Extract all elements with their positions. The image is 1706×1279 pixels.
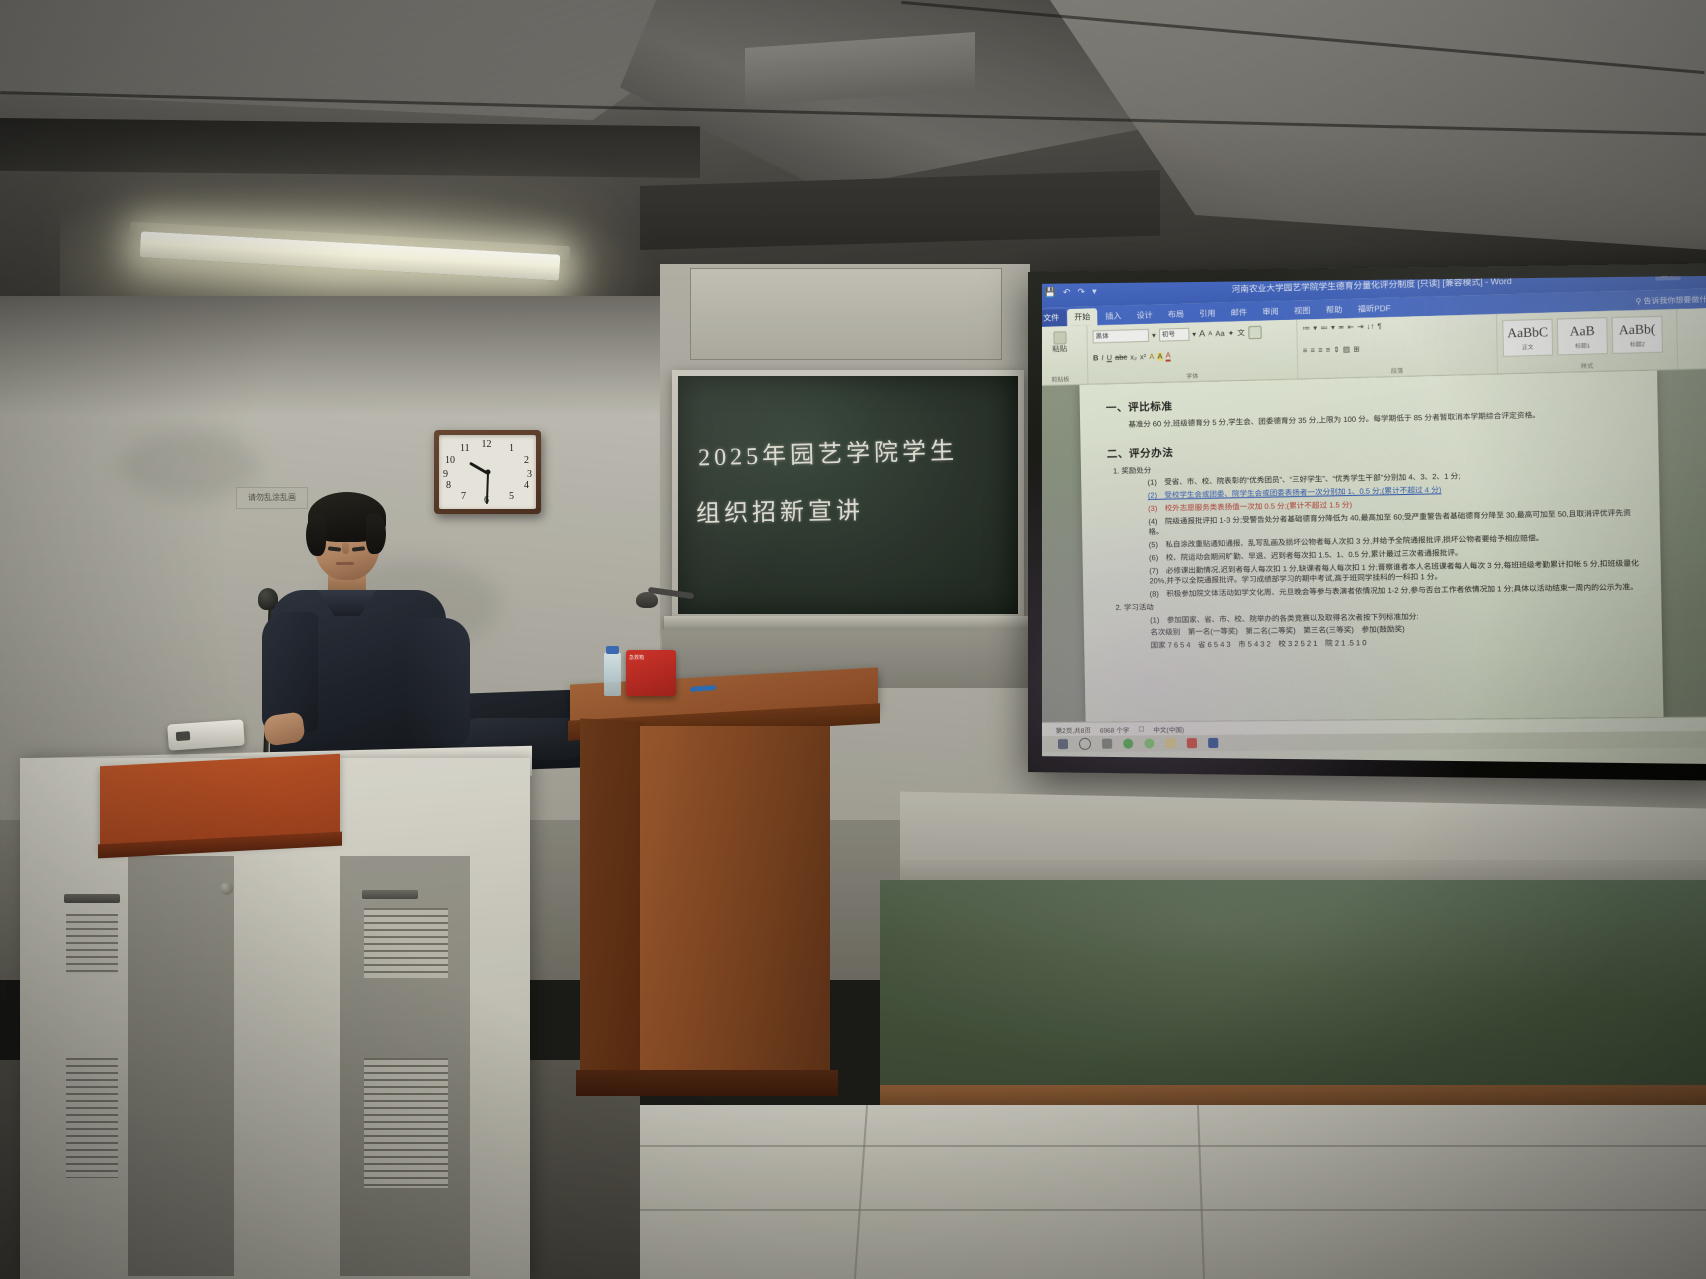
style-normal-name: 正文 [1522, 343, 1534, 352]
console-knob[interactable] [220, 882, 233, 895]
tile-grout-h2 [600, 1209, 1706, 1211]
console-vent-1 [66, 914, 118, 974]
ribbon-group-font[interactable]: 黑体 ▾ 初号 ▾ A A Aa ✦ 文 B [1087, 320, 1298, 384]
text-effects-icon[interactable]: A [1149, 353, 1154, 361]
red-box-label: 急救箱 [626, 650, 676, 666]
task-view-icon[interactable] [1102, 739, 1112, 749]
justify-icon[interactable]: ≡ [1326, 346, 1331, 354]
lectern-body [640, 726, 830, 1086]
subscript-icon[interactable]: x₂ [1130, 354, 1137, 362]
tab-file[interactable]: 文件 [1042, 309, 1066, 327]
person-hair-side-left [306, 514, 326, 556]
style-normal-preview: AaBbC [1507, 324, 1548, 342]
tile-grout-h1 [600, 1145, 1706, 1147]
style-normal[interactable]: AaBbC 正文 [1502, 319, 1553, 357]
redo-icon[interactable]: ↷ [1077, 287, 1085, 298]
bold-icon[interactable]: B [1093, 355, 1099, 363]
clock-center-pin [485, 470, 490, 475]
person-presenter [262, 492, 562, 764]
blackboard-chalk-line-2: 组织招新宣讲 [696, 491, 865, 529]
projection-display-panel: save-icon 💾 ↶ ↷ ▾ 河南农业大学园艺学院学生德育分量化评分制度 … [1028, 263, 1706, 781]
green-floor-sheen [880, 880, 1706, 1100]
phonetic-guide-icon[interactable]: 文 [1237, 329, 1245, 337]
underline-icon[interactable]: U [1107, 354, 1113, 362]
shading-icon[interactable]: ▨ [1343, 345, 1350, 353]
lectern-base [576, 1070, 838, 1096]
tile-floor [600, 1105, 1706, 1279]
strikethrough-icon[interactable]: abc [1115, 354, 1127, 362]
bullets-chevron-down-icon[interactable]: ▾ [1313, 324, 1317, 332]
font-size-input[interactable]: 初号 [1159, 328, 1190, 342]
tile-grout-v1 [854, 1105, 868, 1279]
console-handle-right[interactable] [362, 890, 418, 899]
clock-numeral-11: 11 [460, 443, 470, 454]
restore-button[interactable]: ▫ [1700, 276, 1703, 278]
remote-display [176, 731, 191, 741]
ribbon-group-paragraph[interactable]: ≔ ▾ ≕ ▾ ≖ ⇤ ⇥ ↓↑ ¶ ≡ ≡ [1297, 314, 1498, 378]
sign-in-button[interactable]: 登录 [1656, 276, 1682, 281]
qq-icon[interactable] [1144, 738, 1154, 748]
word-icon[interactable] [1208, 738, 1218, 748]
multilevel-list-icon[interactable]: ≖ [1338, 323, 1345, 331]
reading-lamp-head [636, 592, 658, 608]
style-heading1-preview: AaB [1570, 323, 1595, 340]
document-title: 河南农业大学园艺学院学生德育分量化评分制度 [只读] [兼容模式] - Word [1231, 276, 1511, 295]
font-name-input[interactable]: 黑体 [1092, 329, 1149, 344]
enclose-character-icon[interactable] [1248, 326, 1262, 340]
align-right-icon[interactable]: ≡ [1318, 346, 1323, 354]
remote-control[interactable] [167, 719, 245, 750]
status-page-number[interactable]: 第2页,共8页 [1056, 724, 1091, 734]
clock-numeral-2: 2 [524, 455, 529, 466]
undo-icon[interactable]: ↶ [1063, 287, 1071, 298]
numbering-chevron-down-icon[interactable]: ▾ [1331, 324, 1335, 332]
document-canvas[interactable]: 一、评比标准 基准分 60 分,班级德育分 5 分,学生会、团委德育分 35 分… [1042, 369, 1706, 722]
paste-icon[interactable] [1053, 331, 1066, 344]
highlight-icon[interactable]: A [1157, 353, 1162, 361]
style-heading1[interactable]: AaB 标题1 [1557, 317, 1608, 355]
clock-numeral-9: 9 [443, 469, 448, 480]
console-panel-left [128, 856, 234, 1276]
status-language[interactable]: 中文(中国) [1153, 724, 1184, 734]
align-center-icon[interactable]: ≡ [1310, 346, 1315, 354]
chevron-down-icon[interactable]: ▾ [1092, 286, 1097, 297]
console-vent-3 [364, 908, 448, 978]
person-eye-left [328, 546, 341, 551]
paste-label[interactable]: 粘贴 [1052, 345, 1067, 353]
style-heading2-name: 标题2 [1630, 340, 1645, 349]
tab-design[interactable]: 设计 [1129, 306, 1160, 324]
shrink-font-icon[interactable]: A [1208, 331, 1212, 337]
folder-icon[interactable] [1165, 738, 1175, 748]
water-bottle [604, 652, 621, 696]
document-page[interactable]: 一、评比标准 基准分 60 分,班级德育分 5 分,学生会、团委德育分 35 分… [1079, 370, 1663, 721]
clock-numeral-3: 3 [527, 469, 532, 480]
person-nose [342, 542, 349, 554]
clear-formatting-icon[interactable]: ✦ [1228, 329, 1235, 337]
style-heading1-name: 标题1 [1575, 341, 1590, 350]
console-handle-left[interactable] [64, 894, 120, 903]
sort-icon[interactable]: ↓↑ [1367, 323, 1375, 331]
numbering-icon[interactable]: ≕ [1320, 324, 1328, 332]
person-right-arm [408, 618, 470, 746]
italic-icon[interactable]: I [1101, 354, 1103, 362]
tile-grout-v2 [1197, 1105, 1205, 1279]
screen-tilt-wrapper: save-icon 💾 ↶ ↷ ▾ 河南农业大学园艺学院学生德育分量化评分制度 … [1042, 276, 1706, 764]
classroom-photo-scene: 12 1 2 3 4 5 6 7 8 9 10 11 请勿乱涂乱画 2025年园… [0, 0, 1706, 1279]
tab-foxit-pdf[interactable]: 福昕PDF [1350, 300, 1398, 319]
person-eye-right [352, 546, 365, 551]
tab-layout[interactable]: 布局 [1161, 306, 1192, 324]
style-heading2[interactable]: AaBb( 标题2 [1612, 316, 1664, 354]
grow-font-icon[interactable]: A [1199, 329, 1205, 338]
lectern-side-panel [580, 718, 644, 1093]
tab-view[interactable]: 视图 [1287, 302, 1318, 320]
change-case-icon[interactable]: Aa [1215, 330, 1224, 338]
person-hair-side-right [366, 514, 386, 554]
ceiling-shadow-left [0, 118, 700, 178]
clock-numeral-10: 10 [445, 455, 455, 466]
style-heading2-preview: AaBb( [1619, 321, 1656, 338]
wechat-icon[interactable] [1123, 739, 1133, 749]
tab-mailings[interactable]: 邮件 [1223, 304, 1254, 322]
blackboard-upper-panel [690, 268, 1002, 360]
tab-home[interactable]: 开始 [1067, 308, 1097, 326]
show-marks-icon[interactable]: ¶ [1377, 322, 1381, 330]
line-spacing-icon[interactable]: ⇕ [1333, 345, 1340, 353]
clock-numeral-12: 12 [482, 439, 492, 450]
bullets-icon[interactable]: ≔ [1302, 324, 1310, 332]
status-word-count[interactable]: 6968 个字 [1100, 724, 1130, 734]
console-vent-2 [66, 1058, 118, 1178]
window-controls[interactable]: 登录 — ▫ ✕ [1656, 276, 1706, 281]
font-size-chevron-down-icon[interactable]: ▾ [1192, 330, 1196, 338]
red-first-aid-box: 急救箱 [626, 650, 676, 696]
font-color-icon[interactable]: A [1165, 352, 1170, 362]
clock-numeral-1: 1 [509, 443, 514, 454]
person-mouth [336, 562, 354, 565]
blackboard-chalk-line-1: 2025年园艺学院学生 [698, 431, 959, 473]
clock-numeral-4: 4 [524, 480, 529, 491]
tab-references[interactable]: 引用 [1192, 305, 1223, 323]
tab-review[interactable]: 审阅 [1255, 303, 1286, 321]
windows-start-icon[interactable] [1058, 739, 1068, 749]
minimize-button[interactable]: — [1686, 276, 1695, 278]
ribbon-group-styles[interactable]: AaBbC 正文 AaB 标题1 AaBb( 标题2 [1497, 309, 1678, 373]
tell-me-search[interactable]: ⚲ 告诉我你想要做什么 [1635, 293, 1706, 307]
tab-help[interactable]: 帮助 [1318, 301, 1349, 319]
font-name-chevron-down-icon[interactable]: ▾ [1152, 331, 1156, 339]
save-glyph[interactable]: 💾 [1045, 287, 1056, 298]
clipboard-group-caption: 剪贴板 [1042, 374, 1082, 385]
water-bottle-cap [606, 646, 619, 654]
quick-access-toolbar[interactable]: save-icon 💾 ↶ ↷ ▾ [1042, 286, 1097, 299]
cortana-search-icon[interactable] [1079, 738, 1091, 750]
console-vent-4 [364, 1058, 448, 1188]
superscript-icon[interactable]: x² [1140, 353, 1146, 361]
clock-numeral-8: 8 [446, 480, 451, 491]
tab-insert[interactable]: 插入 [1098, 307, 1128, 325]
blackboard-frame: 2025年园艺学院学生 组织招新宣讲 [672, 370, 1024, 620]
borders-icon[interactable]: ⊞ [1353, 345, 1360, 353]
ribbon-group-clipboard[interactable]: 粘贴 剪贴板 [1042, 326, 1088, 386]
tell-me-label: 告诉我你想要做什么 [1643, 294, 1706, 305]
display-screen-content: save-icon 💾 ↶ ↷ ▾ 河南农业大学园艺学院学生德育分量化评分制度 … [1042, 276, 1706, 764]
increase-indent-icon[interactable]: ⇥ [1357, 323, 1364, 331]
align-left-icon[interactable]: ≡ [1303, 346, 1308, 354]
pdf-icon[interactable] [1187, 738, 1197, 748]
blackboard-surface: 2025年园艺学院学生 组织招新宣讲 [678, 376, 1018, 614]
decrease-indent-icon[interactable]: ⇤ [1347, 323, 1354, 331]
proofing-icon[interactable]: ☐ [1138, 725, 1144, 733]
